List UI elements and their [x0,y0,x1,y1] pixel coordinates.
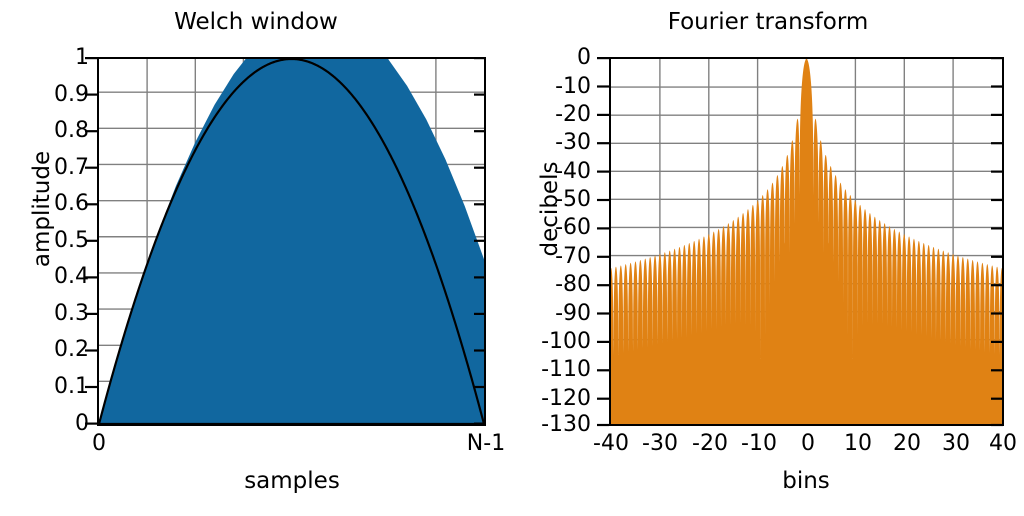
x-axis-label-welch-window: samples [244,468,340,494]
panel-title-fourier-transform: Fourier transform [512,7,1024,37]
figure-canvas: Welch window [0,0,1024,512]
series-welch-window [99,59,484,424]
plot-area-welch-window [97,57,486,426]
y-axis-label-welch-window: amplitude [29,129,55,289]
plot-area-fourier-transform [609,57,1004,426]
x-axis-label-fourier-transform: bins [782,468,830,494]
y-axis-label-fourier-transform: decibels [537,129,563,289]
panel-title-welch-window: Welch window [0,7,512,37]
series-fourier-transform [611,59,1002,424]
